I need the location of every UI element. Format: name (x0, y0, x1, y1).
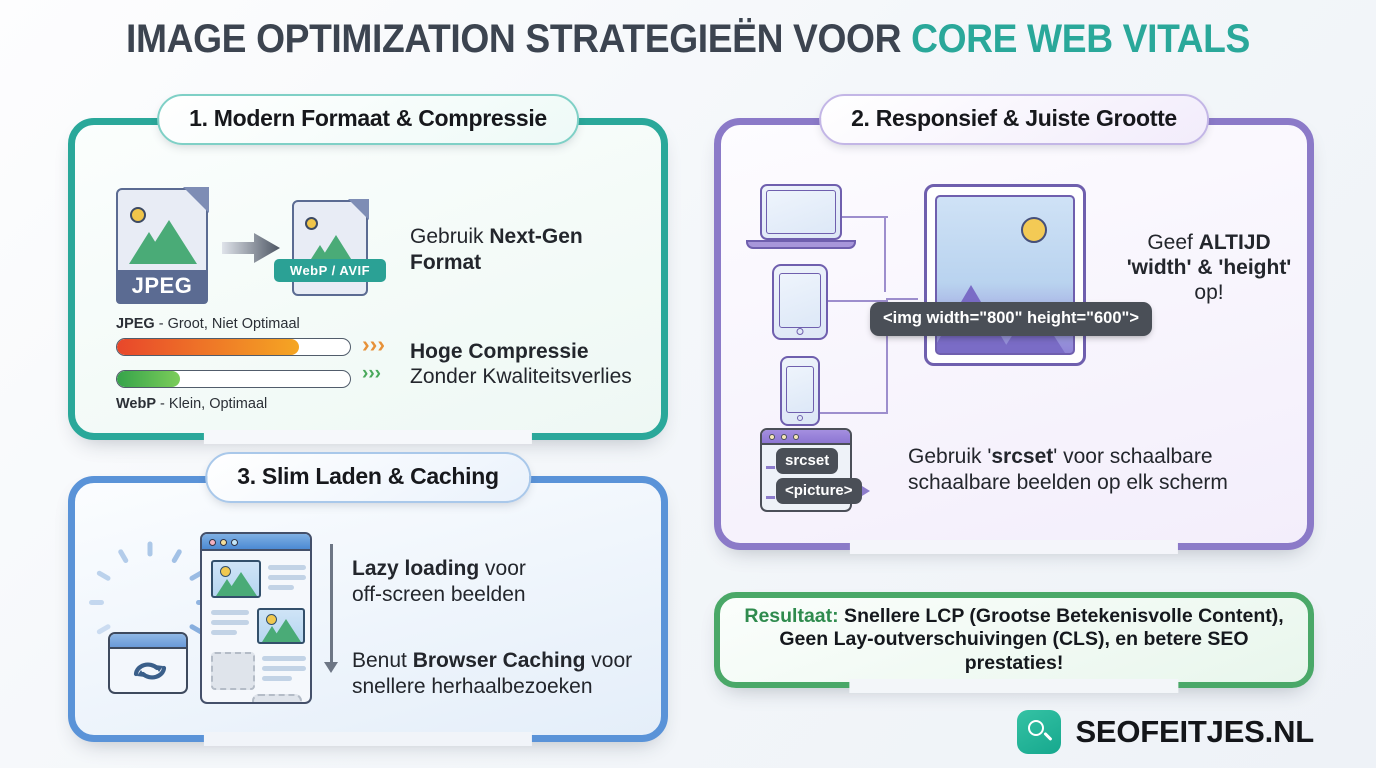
brand-name: SEOFEITJES.NL (1075, 714, 1314, 750)
card-responsive-size: <img width="800" height="600"> Geef ALTI… (714, 118, 1314, 550)
result-frame (714, 592, 1314, 688)
card-title-modern-format: 1. Modern Formaat & Compressie (157, 94, 579, 145)
search-icon (1017, 710, 1061, 754)
card-title-smart-loading: 3. Slim Laden & Caching (205, 452, 531, 503)
card-modern-format: JPEG WebP / AVIF Gebruik Next-G (68, 118, 668, 440)
result-banner: Resultaat: Snellere LCP (Grootse Beteken… (714, 592, 1314, 688)
page-title: IMAGE OPTIMIZATION STRATEGIEËN VOOR CORE… (48, 18, 1328, 60)
card-frame (68, 118, 668, 440)
card-frame (714, 118, 1314, 550)
card-title-responsive: 2. Responsief & Juiste Grootte (819, 94, 1209, 145)
brand-logo[interactable]: SEOFEITJES.NL (1017, 710, 1314, 754)
card-frame (68, 476, 668, 742)
page-title-accent: CORE WEB VITALS (911, 17, 1250, 61)
page-title-main: IMAGE OPTIMIZATION STRATEGIEËN VOOR (126, 17, 911, 61)
card-smart-loading: Lazy loading voor off-screen beelden Ben… (68, 476, 668, 742)
infographic-header: IMAGE OPTIMIZATION STRATEGIEËN VOOR CORE… (0, 18, 1376, 60)
